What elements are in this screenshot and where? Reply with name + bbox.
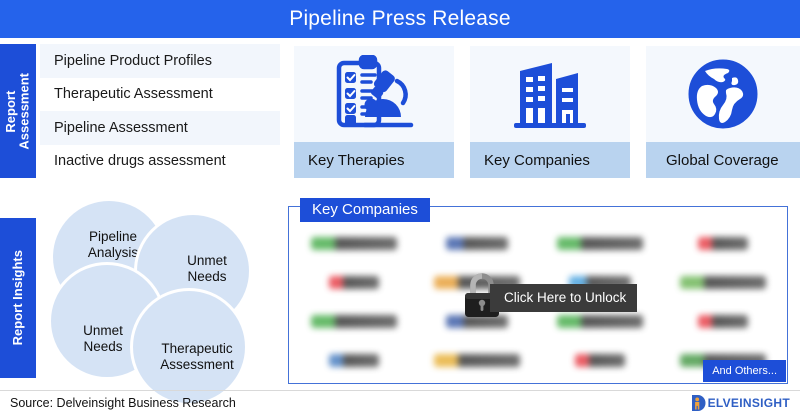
feature-card-global-coverage-label: Global Coverage xyxy=(646,142,800,178)
company-logo xyxy=(557,237,643,250)
feature-card-key-therapies-label: Key Therapies xyxy=(294,142,454,178)
side-tab-report-assessment-label: Report Assessment xyxy=(4,73,31,150)
list-item[interactable]: Pipeline Product Profiles xyxy=(40,44,280,78)
list-item-label: Pipeline Assessment xyxy=(54,120,188,136)
feature-card-key-therapies[interactable]: Key Therapies xyxy=(294,46,454,178)
feature-card-global-coverage[interactable]: Global Coverage xyxy=(646,46,800,178)
side-tab-report-assessment: Report Assessment xyxy=(0,44,36,178)
company-logo xyxy=(680,276,766,289)
venn-diagram: Pipeline Analysis Unmet Needs Unmet Need… xyxy=(44,196,276,384)
company-logo xyxy=(311,237,397,250)
feature-card-key-companies[interactable]: Key Companies xyxy=(470,46,630,178)
source-text: Source: Delveinsight Business Research xyxy=(10,396,236,410)
list-item[interactable]: Pipeline Assessment xyxy=(40,111,280,145)
unlock-control[interactable]: Click Here to Unlock xyxy=(460,272,637,323)
list-item[interactable]: Therapeutic Assessment xyxy=(40,78,280,112)
company-logo xyxy=(434,354,520,367)
list-item-label: Therapeutic Assessment xyxy=(54,86,213,102)
company-logo xyxy=(446,237,508,250)
unlock-tooltip[interactable]: Click Here to Unlock xyxy=(490,284,637,312)
company-logo xyxy=(329,276,379,289)
list-item-label: Inactive drugs assessment xyxy=(54,153,226,169)
list-item-label: Pipeline Product Profiles xyxy=(54,53,212,69)
delveinsight-wordmark: ELVEINSIGHT xyxy=(708,396,790,410)
company-logo xyxy=(575,354,625,367)
company-logo xyxy=(311,315,397,328)
globe-icon xyxy=(646,46,800,142)
venn-circle-therapeutic-assessment: Therapeutic Assessment xyxy=(130,288,248,406)
company-logo xyxy=(698,237,748,250)
company-logo xyxy=(329,354,379,367)
key-companies-panel-tab: Key Companies xyxy=(300,198,430,222)
side-tab-report-insights-label: Report Insights xyxy=(11,250,25,345)
feature-card-key-companies-label: Key Companies xyxy=(470,142,630,178)
venn-circle-label: Therapeutic Assessment xyxy=(160,341,234,373)
venn-circle-label: Unmet Needs xyxy=(187,253,227,285)
footer-divider xyxy=(0,390,800,391)
delveinsight-logo: ELVEINSIGHT xyxy=(691,393,790,413)
clipboard-microscope-icon xyxy=(294,46,454,142)
side-tab-report-insights: Report Insights xyxy=(0,218,36,378)
list-item[interactable]: Inactive drugs assessment xyxy=(40,145,280,179)
title-bar: Pipeline Press Release xyxy=(0,0,800,38)
company-logo xyxy=(698,315,748,328)
page-title: Pipeline Press Release xyxy=(289,7,511,31)
report-assessment-list: Pipeline Product Profiles Therapeutic As… xyxy=(40,44,280,178)
venn-circle-label: Unmet Needs xyxy=(83,323,123,355)
delveinsight-d-mark xyxy=(691,393,708,413)
slide-root: Pipeline Press Release Report Assessment… xyxy=(0,0,800,420)
and-others-badge[interactable]: And Others... xyxy=(703,360,786,382)
venn-circle-label: Pipeline Analysis xyxy=(88,229,138,261)
buildings-icon xyxy=(470,46,630,142)
